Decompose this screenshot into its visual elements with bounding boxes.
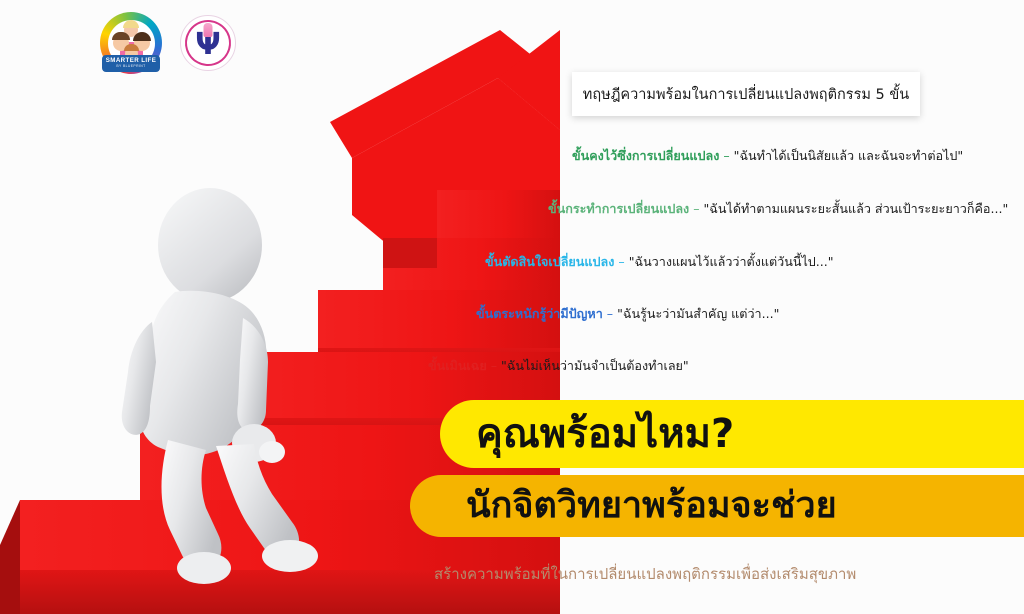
step-dash-preparation: – <box>614 254 628 269</box>
step-line-contemplation: ขั้นตระหนักรู้ว่ามีปัญหา – "ฉันรู้นะว่าม… <box>476 306 779 322</box>
step-quote-precontemplation: "ฉันไม่เห็นว่ามันจำเป็นต้องทำเลย" <box>501 358 689 373</box>
step-dash-precontemplation: – <box>487 358 501 373</box>
logo-row: SMARTER LIFE BY BLUEPRINT Ψ <box>100 12 236 74</box>
step-quote-action: "ฉันได้ทำตามแผนระยะสั้นแล้ว ส่วนเป้าระยะ… <box>704 201 1009 216</box>
psychology-logo: Ψ <box>180 15 236 71</box>
step-dash-contemplation: – <box>603 306 617 321</box>
smarter-life-wordmark: SMARTER LIFE BY BLUEPRINT <box>102 55 160 72</box>
smarter-life-logo: SMARTER LIFE BY BLUEPRINT <box>100 12 162 74</box>
step-label-contemplation: ขั้นตระหนักรู้ว่ามีปัญหา <box>476 306 603 321</box>
step-label-preparation: ขั้นตัดสินใจเปลี่ยนแปลง <box>485 254 614 269</box>
secondary-banner: นักจิตวิทยาพร้อมจะช่วย <box>410 475 1024 537</box>
step-dash-action: – <box>689 201 703 216</box>
step-quote-contemplation: "ฉันรู้นะว่ามันสำคัญ แต่ว่า..." <box>617 306 779 321</box>
page-title: ทฤษฎีความพร้อมในการเปลี่ยนแปลงพฤติกรรม 5… <box>583 83 909 106</box>
smarter-life-subname: BY BLUEPRINT <box>116 65 145 68</box>
poster-canvas: SMARTER LIFE BY BLUEPRINT Ψ <box>0 0 1024 614</box>
step-line-action: ขั้นกระทำการเปลี่ยนแปลง – "ฉันได้ทำตามแผ… <box>548 201 1008 217</box>
secondary-banner-text: นักจิตวิทยาพร้อมจะช่วย <box>466 488 837 524</box>
primary-banner-text: คุณพร้อมไหม? <box>476 414 734 454</box>
theory-title-box: ทฤษฎีความพร้อมในการเปลี่ยนแปลงพฤติกรรม 5… <box>572 72 920 116</box>
step-dash-maintenance: – <box>719 148 733 163</box>
step-line-precontemplation: ขั้นเมินเฉย – "ฉันไม่เห็นว่ามันจำเป็นต้อ… <box>428 358 689 374</box>
step-quote-preparation: "ฉันวางแผนไว้แล้วว่าตั้งแต่วันนี้ไป..." <box>629 254 834 269</box>
step-line-preparation: ขั้นตัดสินใจเปลี่ยนแปลง – "ฉันวางแผนไว้แ… <box>485 254 834 270</box>
step-label-action: ขั้นกระทำการเปลี่ยนแปลง <box>548 201 689 216</box>
psi-cap-shape <box>204 23 213 37</box>
step-quote-maintenance: "ฉันทำได้เป็นนิสัยแล้ว และฉันจะทำต่อไป" <box>734 148 964 163</box>
primary-banner: คุณพร้อมไหม? <box>440 400 1024 468</box>
step-line-maintenance: ขั้นคงไว้ซึ่งการเปลี่ยนแปลง – "ฉันทำได้เ… <box>572 148 963 164</box>
step-label-maintenance: ขั้นคงไว้ซึ่งการเปลี่ยนแปลง <box>572 148 719 163</box>
subtitle-text: สร้างความพร้อมที่ในการเปลี่ยนแปลงพฤติกรร… <box>434 562 856 586</box>
step-label-precontemplation: ขั้นเมินเฉย <box>428 358 487 373</box>
